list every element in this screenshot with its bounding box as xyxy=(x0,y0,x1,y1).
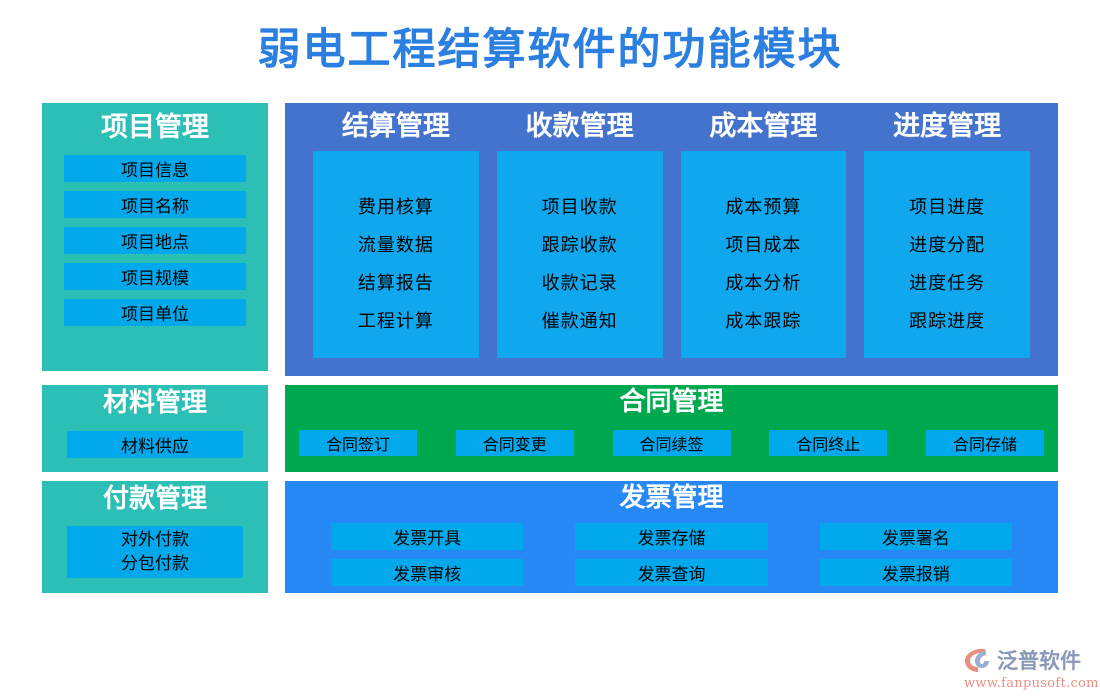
panel-contract-heading: 合同管理 xyxy=(285,388,1058,417)
payment-item-subcontract: 分包付款 xyxy=(121,552,189,576)
settlement-item-flow-data[interactable]: 流量数据 xyxy=(358,231,434,257)
contract-item-signing[interactable]: 合同签订 xyxy=(299,430,417,456)
panel-project-heading: 项目管理 xyxy=(42,113,268,143)
column-cost-heading: 成本管理 xyxy=(681,112,847,142)
panel-material-management: 材料管理 材料供应 xyxy=(42,385,268,472)
column-settlement-body: 费用核算 流量数据 结算报告 工程计算 xyxy=(313,151,479,358)
invoice-item-signature[interactable]: 发票署名 xyxy=(820,523,1012,550)
brand-logo-row: 泛普软件 xyxy=(963,645,1093,675)
project-item-info[interactable]: 项目信息 xyxy=(64,155,246,182)
contract-item-change[interactable]: 合同变更 xyxy=(456,430,574,456)
core-modules-columns: 结算管理 费用核算 流量数据 结算报告 工程计算 收款管理 项目收款 跟踪收款 … xyxy=(285,103,1058,376)
cost-item-analysis[interactable]: 成本分析 xyxy=(725,269,801,295)
progress-item-tracking[interactable]: 跟踪进度 xyxy=(909,307,985,333)
contract-item-renewal[interactable]: 合同续签 xyxy=(613,430,731,456)
brand-logo-url: www.fanpusoft.com xyxy=(964,676,1093,691)
column-progress-heading: 进度管理 xyxy=(864,112,1030,142)
invoice-item-grid: 发票开具 发票存储 发票署名 发票审核 发票查询 发票报销 xyxy=(331,523,1012,586)
panel-project-management: 项目管理 项目信息 项目名称 项目地点 项目规模 项目单位 xyxy=(42,103,268,371)
cost-item-budget[interactable]: 成本预算 xyxy=(725,193,801,219)
project-item-scale[interactable]: 项目规模 xyxy=(64,263,246,290)
contract-item-list: 合同签订 合同变更 合同续签 合同终止 合同存储 xyxy=(299,430,1044,456)
cost-item-tracking[interactable]: 成本跟踪 xyxy=(725,307,801,333)
column-receivable-body: 项目收款 跟踪收款 收款记录 催款通知 xyxy=(497,151,663,358)
column-cost-management: 成本管理 成本预算 项目成本 成本分析 成本跟踪 xyxy=(681,103,847,376)
project-item-list: 项目信息 项目名称 项目地点 项目规模 项目单位 xyxy=(64,155,246,326)
brand-logo: 泛普软件 www.fanpusoft.com xyxy=(963,645,1093,693)
invoice-item-reimbursement[interactable]: 发票报销 xyxy=(820,559,1012,586)
progress-item-allocation[interactable]: 进度分配 xyxy=(909,231,985,257)
invoice-item-audit[interactable]: 发票审核 xyxy=(331,559,523,586)
settlement-item-engineering-calc[interactable]: 工程计算 xyxy=(358,307,434,333)
contract-item-termination[interactable]: 合同终止 xyxy=(769,430,887,456)
fanpu-logo-icon xyxy=(963,645,993,675)
payment-item-box[interactable]: 对外付款 分包付款 xyxy=(67,526,243,578)
receivable-item-tracking[interactable]: 跟踪收款 xyxy=(542,231,618,257)
page-title: 弱电工程结算软件的功能模块 xyxy=(0,24,1100,76)
progress-item-project-progress[interactable]: 项目进度 xyxy=(909,193,985,219)
cost-item-project-cost[interactable]: 项目成本 xyxy=(725,231,801,257)
receivable-item-reminder-notice[interactable]: 催款通知 xyxy=(542,307,618,333)
column-cost-body: 成本预算 项目成本 成本分析 成本跟踪 xyxy=(681,151,847,358)
column-receivable-management: 收款管理 项目收款 跟踪收款 收款记录 催款通知 xyxy=(497,103,663,376)
project-item-location[interactable]: 项目地点 xyxy=(64,227,246,254)
column-progress-management: 进度管理 项目进度 进度分配 进度任务 跟踪进度 xyxy=(864,103,1030,376)
project-item-name[interactable]: 项目名称 xyxy=(64,191,246,218)
column-receivable-heading: 收款管理 xyxy=(497,112,663,142)
panel-payment-management: 付款管理 对外付款 分包付款 xyxy=(42,481,268,593)
contract-item-storage[interactable]: 合同存储 xyxy=(926,430,1044,456)
column-settlement-management: 结算管理 费用核算 流量数据 结算报告 工程计算 xyxy=(313,103,479,376)
panel-invoice-heading: 发票管理 xyxy=(285,484,1058,513)
column-settlement-heading: 结算管理 xyxy=(313,112,479,142)
receivable-item-records[interactable]: 收款记录 xyxy=(542,269,618,295)
invoice-item-query[interactable]: 发票查询 xyxy=(575,559,767,586)
column-progress-body: 项目进度 进度分配 进度任务 跟踪进度 xyxy=(864,151,1030,358)
panel-invoice-management: 发票管理 发票开具 发票存储 发票署名 发票审核 发票查询 发票报销 xyxy=(285,481,1058,593)
invoice-item-storage[interactable]: 发票存储 xyxy=(575,523,767,550)
project-item-unit[interactable]: 项目单位 xyxy=(64,299,246,326)
material-item-supply[interactable]: 材料供应 xyxy=(67,431,243,458)
panel-contract-management: 合同管理 合同签订 合同变更 合同续签 合同终止 合同存储 xyxy=(285,385,1058,472)
panel-material-heading: 材料管理 xyxy=(42,389,268,418)
settlement-item-report[interactable]: 结算报告 xyxy=(358,269,434,295)
receivable-item-project-collection[interactable]: 项目收款 xyxy=(542,193,618,219)
settlement-item-cost-accounting[interactable]: 费用核算 xyxy=(358,193,434,219)
brand-logo-name: 泛普软件 xyxy=(997,645,1081,675)
panel-core-modules: 结算管理 费用核算 流量数据 结算报告 工程计算 收款管理 项目收款 跟踪收款 … xyxy=(285,103,1058,376)
invoice-item-issue[interactable]: 发票开具 xyxy=(331,523,523,550)
payment-item-external: 对外付款 xyxy=(121,528,189,552)
progress-item-tasks[interactable]: 进度任务 xyxy=(909,269,985,295)
panel-payment-heading: 付款管理 xyxy=(42,485,268,514)
